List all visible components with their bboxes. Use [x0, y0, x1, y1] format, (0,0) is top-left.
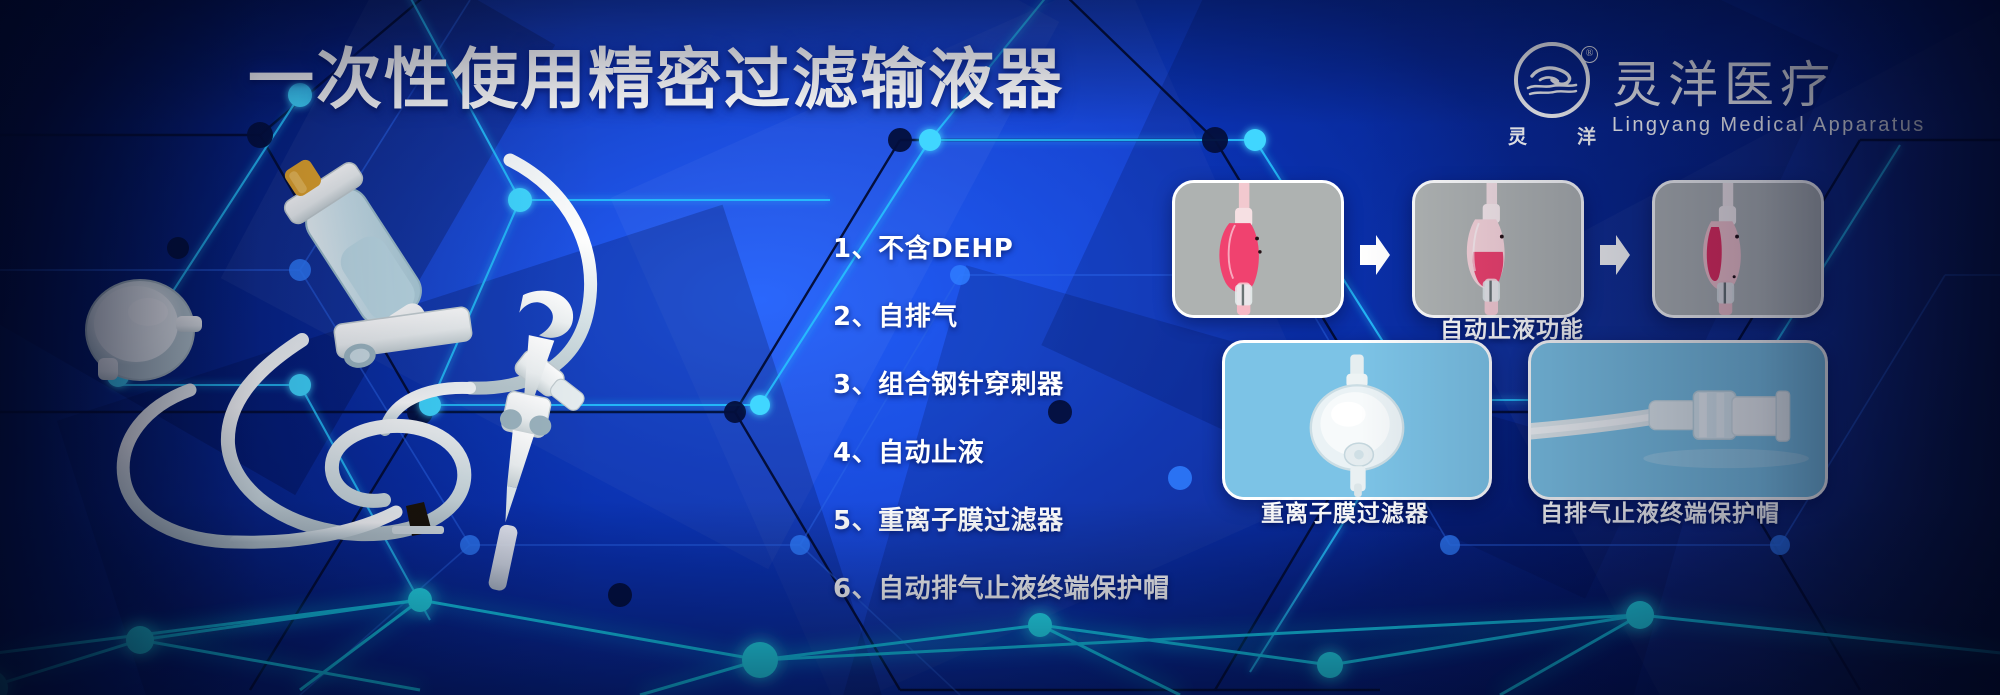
company-name-en: Lingyang Medical Apparatus [1612, 114, 1926, 137]
filter-image [1225, 343, 1489, 497]
logo-mark: ® 灵 洋 [1508, 42, 1596, 150]
feature-item-2: 2、自排气 [833, 296, 1170, 333]
feature-item-3: 3、组合钢针穿刺器 [833, 364, 1170, 401]
autostop-step-2-image [1415, 183, 1581, 315]
filter-caption: 重离子膜过滤器 [1261, 494, 1429, 528]
product-banner: 一次性使用精密过滤输液器 ® 灵 洋 灵洋医疗 Lingyang Medical… [0, 0, 2000, 695]
autostop-step-1-panel [1172, 180, 1344, 318]
sequence-arrow-1-icon [1358, 233, 1392, 277]
product-photo-infusion-set [40, 140, 660, 560]
filter-disc [86, 280, 202, 380]
autostop-step-1-image [1175, 183, 1341, 315]
feature-item-4: 4、自动止液 [833, 432, 1170, 469]
feature-item-6: 6、自动排气止液终端保护帽 [833, 568, 1170, 605]
feature-list: 1、不含DEHP 2、自排气 3、组合钢针穿刺器 4、自动止液 5、重离子膜过滤… [833, 228, 1170, 605]
logo-text-block: 灵洋医疗 Lingyang Medical Apparatus [1612, 55, 1926, 137]
logo-wave-icon [1526, 64, 1578, 98]
terminal-cap-image [1531, 343, 1825, 497]
feature-item-5: 5、重离子膜过滤器 [833, 500, 1170, 537]
registered-trademark-icon: ® [1581, 46, 1598, 63]
sequence-arrow-2-icon [1598, 233, 1632, 277]
logo-char-left: 灵 [1508, 122, 1527, 149]
autostop-step-2-panel [1412, 180, 1584, 318]
logo-char-right: 洋 [1577, 122, 1596, 149]
autostop-step-3-panel [1652, 180, 1824, 318]
autostop-step-3-image [1655, 183, 1821, 315]
brand-logo: ® 灵 洋 灵洋医疗 Lingyang Medical Apparatus [1508, 42, 1926, 150]
logo-mark-characters: 灵 洋 [1508, 122, 1596, 149]
company-name-cn: 灵洋医疗 [1612, 59, 1926, 112]
terminal-cap-panel [1528, 340, 1828, 500]
page-title: 一次性使用精密过滤输液器 [248, 47, 1064, 113]
autostop-caption: 自动止液功能 [1440, 310, 1584, 344]
feature-item-1: 1、不含DEHP [833, 228, 1170, 265]
terminal-cap-caption: 自排气止液终端保护帽 [1540, 494, 1780, 528]
steel-needle-assembly [462, 286, 579, 594]
roller-clamp [333, 306, 474, 370]
filter-panel [1222, 340, 1492, 500]
